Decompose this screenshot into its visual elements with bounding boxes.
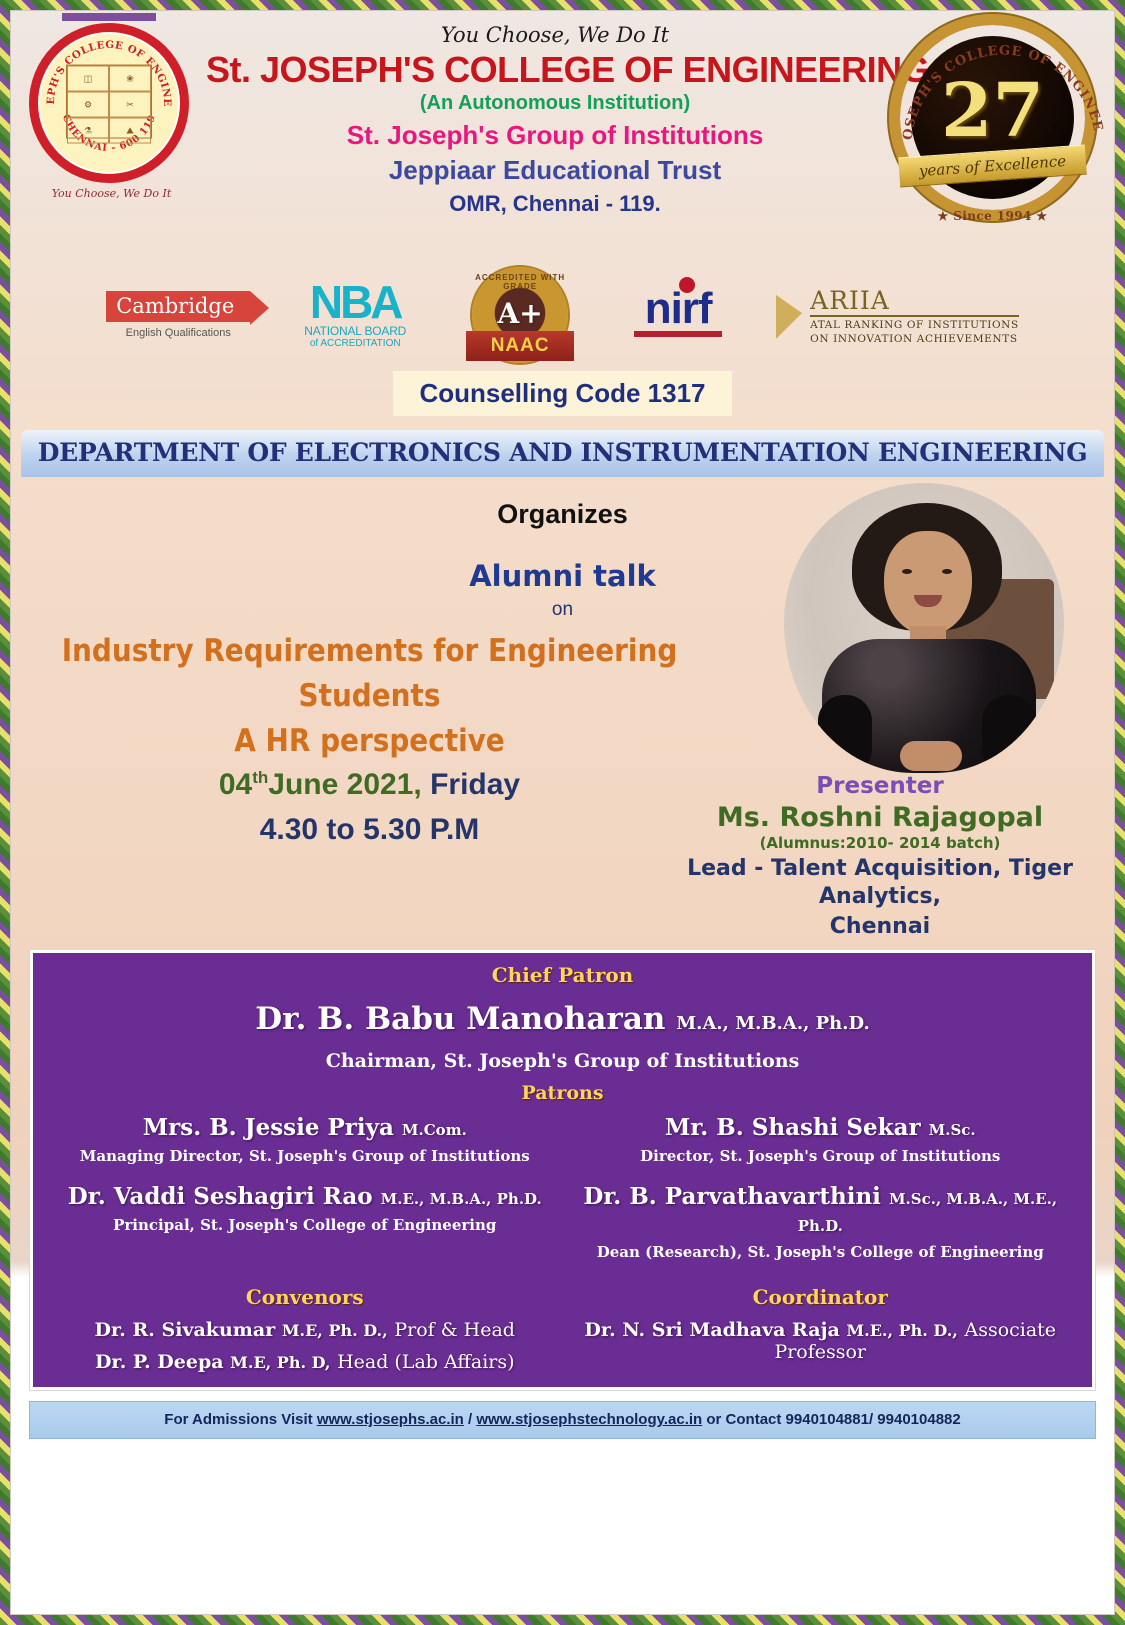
department-banner: DEPARTMENT OF ELECTRONICS AND INSTRUMENT… xyxy=(21,430,1104,477)
convenor-role: Head (Lab Affairs) xyxy=(337,1351,514,1373)
chief-patron-degrees: M.A., M.B.A., Ph.D. xyxy=(676,1013,870,1034)
badge-27-circle: St. JOSEPH'S COLLEGE OF ENGINEERING 27 y… xyxy=(900,25,1085,210)
chief-patron-row: Dr. B. Babu Manoharan M.A., M.B.A., Ph.D… xyxy=(47,1001,1078,1037)
cambridge-subtitle: English Qualifications xyxy=(106,327,250,339)
patron-name-row: Dr. Vaddi Seshagiri Rao M.E., M.B.A., Ph… xyxy=(47,1183,563,1210)
ariia-logo: ARIIA ATAL RANKING OF INSTITUTIONS ON IN… xyxy=(776,286,1019,345)
patron-degrees: M.E., M.B.A., Ph.D. xyxy=(381,1190,542,1208)
event-main-section: Organizes Alumni talk on Industry Requir… xyxy=(11,477,1114,947)
patron-role: Director, St. Joseph's Group of Institut… xyxy=(563,1147,1079,1165)
seal-shield-grid: ◫ ❀ ⚙ ✂ ⚗ ⛰ xyxy=(66,65,152,139)
convenor-degrees: M.E, Ph. D., xyxy=(282,1321,388,1340)
chief-patron-role: Chairman, St. Joseph's Group of Institut… xyxy=(47,1050,1078,1072)
photo-arm-left xyxy=(818,695,872,773)
anniversary-badge-logo: St. JOSEPH'S COLLEGE OF ENGINEERING 27 y… xyxy=(900,25,1100,225)
patrons-row-2: Dr. Vaddi Seshagiri Rao M.E., M.B.A., Ph… xyxy=(47,1183,1078,1261)
coordinator-name: Dr. N. Sri Madhava Raja xyxy=(584,1319,839,1341)
nirf-text: nirf xyxy=(645,284,712,333)
naac-seal: ACCREDITED WITH GRADE A+ NAAC xyxy=(460,267,580,363)
event-weekday: Friday xyxy=(430,768,520,801)
convenor-name: Dr. R. Sivakumar xyxy=(95,1319,276,1341)
institution-address: OMR, Chennai - 119. xyxy=(206,191,904,217)
footer-link-stjosephstechnology[interactable]: www.stjosephstechnology.ac.in xyxy=(476,1411,702,1428)
seal-circle: St. JOSEPH'S COLLEGE OF ENGINEERING CHEN… xyxy=(29,23,189,183)
patron-name-row: Mrs. B. Jessie Priya M.Com. xyxy=(47,1114,563,1141)
poster-root: St. JOSEPH'S COLLEGE OF ENGINEERING CHEN… xyxy=(0,0,1125,1625)
shield-cell-flask: ⚗ xyxy=(67,118,109,144)
admissions-footer: For Admissions Visit www.stjosephs.ac.in… xyxy=(29,1401,1096,1439)
presenter-role-line-2: Chennai xyxy=(660,913,1100,941)
event-date-monthyear: June 2021, xyxy=(268,768,421,801)
ariia-arrow-icon xyxy=(776,291,802,339)
event-topic: Industry Requirements for Engineering St… xyxy=(25,629,714,764)
patron-name-row: Dr. B. Parvathavarthini M.Sc., M.B.A., M… xyxy=(563,1183,1079,1237)
seal-banner-bar xyxy=(62,13,156,21)
convenor-name: Dr. P. Deepa xyxy=(95,1351,224,1373)
accreditation-logo-row: Cambridge English Qualifications NBA NAT… xyxy=(11,265,1114,365)
cambridge-wordmark: Cambridge xyxy=(106,291,250,322)
badge-since-text: ★ Since 1994 ★ xyxy=(911,209,1074,223)
seal-motto: You Choose, We Do It xyxy=(29,187,194,200)
naac-ribbon-text: NAAC xyxy=(466,331,574,361)
trust-name: Jeppiaar Educational Trust xyxy=(206,155,904,186)
counselling-code-badge: Counselling Code 1317 xyxy=(393,371,731,416)
college-name: St. JOSEPH'S COLLEGE OF ENGINEERING xyxy=(206,49,904,91)
nirf-logo: nirf xyxy=(634,289,722,341)
convenors-label: Convenors xyxy=(47,1285,563,1309)
patron-role: Principal, St. Joseph's College of Engin… xyxy=(47,1216,563,1234)
patron-name: Dr. Vaddi Seshagiri Rao xyxy=(68,1183,373,1210)
badge-number: 27 xyxy=(941,68,1044,154)
convenor-role: Prof & Head xyxy=(394,1319,515,1341)
patrons-label: Patrons xyxy=(47,1082,1078,1104)
coordinator-row: Dr. N. Sri Madhava Raja M.E., Ph. D., As… xyxy=(563,1319,1079,1363)
patron-role: Managing Director, St. Joseph's Group of… xyxy=(47,1147,563,1165)
institution-title-block: You Choose, We Do It St. JOSEPH'S COLLEG… xyxy=(206,23,904,217)
photo-eye-right xyxy=(942,569,952,574)
patron-card: Mrs. B. Jessie Priya M.Com. Managing Dir… xyxy=(47,1114,563,1165)
nba-logo: NBA NATIONAL BOARD of ACCREDITATION xyxy=(304,281,406,350)
college-seal-logo: St. JOSEPH'S COLLEGE OF ENGINEERING CHEN… xyxy=(29,23,194,213)
shield-cell-bridge: ⛰ xyxy=(109,118,151,144)
cambridge-logo: Cambridge English Qualifications xyxy=(106,291,250,339)
patron-name: Mrs. B. Jessie Priya xyxy=(143,1114,394,1141)
event-date-row: 04thJune 2021, Friday xyxy=(25,762,714,807)
footer-link-stjosephs[interactable]: www.stjosephs.ac.in xyxy=(317,1411,464,1428)
ariia-text-block: ARIIA ATAL RANKING OF INSTITUTIONS ON IN… xyxy=(810,286,1019,345)
patron-name: Dr. B. Parvathavarthini xyxy=(583,1183,881,1210)
footer-suffix: or Contact 9940104881/ 9940104882 xyxy=(702,1411,961,1428)
naac-grade-text: A+ xyxy=(460,297,580,330)
photo-face xyxy=(884,531,972,635)
footer-separator: / xyxy=(464,1411,477,1428)
event-date-suffix: th xyxy=(252,768,268,787)
naac-accredited-text: ACCREDITED WITH GRADE xyxy=(460,273,580,291)
event-date-day: 04 xyxy=(219,768,252,801)
patron-degrees: M.Com. xyxy=(402,1121,467,1139)
presenter-name: Ms. Roshni Rajagopal xyxy=(660,802,1100,833)
patron-role: Dean (Research), St. Joseph's College of… xyxy=(563,1243,1079,1261)
ariia-subtitle-2: ON INNOVATION ACHIEVEMENTS xyxy=(810,333,1019,345)
autonomous-label: (An Autonomous Institution) xyxy=(206,92,904,115)
ariia-subtitle-1: ATAL RANKING OF INSTITUTIONS xyxy=(810,319,1019,331)
department-name: DEPARTMENT OF ELECTRONICS AND INSTRUMENT… xyxy=(38,438,1088,467)
group-name: St. Joseph's Group of Institutions xyxy=(206,120,904,151)
patron-degrees: M.Sc. xyxy=(929,1121,976,1139)
patrons-panel: Chief Patron Dr. B. Babu Manoharan M.A.,… xyxy=(33,953,1092,1387)
patron-card: Dr. B. Parvathavarthini M.Sc., M.B.A., M… xyxy=(563,1183,1079,1261)
ariia-wordmark: ARIIA xyxy=(810,286,1019,317)
shield-cell-gear: ⚙ xyxy=(67,92,109,118)
nirf-wordmark: nirf xyxy=(645,289,712,329)
nba-wordmark: NBA xyxy=(304,281,406,325)
presenter-label: Presenter xyxy=(660,773,1100,799)
institution-tagline: You Choose, We Do It xyxy=(206,23,904,47)
nba-subtitle-1: NATIONAL BOARD xyxy=(304,324,406,338)
coordinator-block: Coordinator Dr. N. Sri Madhava Raja M.E.… xyxy=(563,1285,1079,1373)
counselling-code-wrap: Counselling Code 1317 xyxy=(11,371,1114,416)
event-time: 4.30 to 5.30 P.M xyxy=(25,807,714,852)
nirf-dot-icon xyxy=(679,277,695,293)
convenor-row: Dr. P. Deepa M.E, Ph. D, Head (Lab Affai… xyxy=(47,1351,563,1373)
footer-prefix: For Admissions Visit xyxy=(164,1411,317,1428)
convenors-coordinator-row: Convenors Dr. R. Sivakumar M.E, Ph. D., … xyxy=(47,1285,1078,1373)
coordinator-label: Coordinator xyxy=(563,1285,1079,1309)
chief-patron-name: Dr. B. Babu Manoharan xyxy=(255,1001,665,1037)
patrons-panel-frame: Chief Patron Dr. B. Babu Manoharan M.A.,… xyxy=(29,949,1096,1391)
event-datetime: 04thJune 2021, Friday 4.30 to 5.30 P.M xyxy=(25,762,714,852)
convenor-degrees: M.E, Ph. D, xyxy=(230,1353,330,1372)
patron-card: Mr. B. Shashi Sekar M.Sc. Director, St. … xyxy=(563,1114,1079,1165)
patrons-row-1: Mrs. B. Jessie Priya M.Com. Managing Dir… xyxy=(47,1114,1078,1165)
shield-cell-antenna: ❀ xyxy=(109,66,151,92)
photo-hands xyxy=(900,741,962,771)
presenter-details: Presenter Ms. Roshni Rajagopal (Alumnus:… xyxy=(660,773,1100,941)
patron-name-row: Mr. B. Shashi Sekar M.Sc. xyxy=(563,1114,1079,1141)
patron-card: Dr. Vaddi Seshagiri Rao M.E., M.B.A., Ph… xyxy=(47,1183,563,1261)
chief-patron-label: Chief Patron xyxy=(47,963,1078,987)
poster-inner: St. JOSEPH'S COLLEGE OF ENGINEERING CHEN… xyxy=(10,10,1115,1615)
coordinator-degrees: M.E., Ph. D., xyxy=(846,1321,957,1340)
presenter-role-line-1: Lead - Talent Acquisition, Tiger Analyti… xyxy=(660,855,1100,910)
convenors-block: Convenors Dr. R. Sivakumar M.E, Ph. D., … xyxy=(47,1285,563,1373)
nba-subtitle-2: of ACCREDITATION xyxy=(304,338,406,349)
shield-cell-computer: ◫ xyxy=(67,66,109,92)
photo-eye-left xyxy=(902,569,912,574)
poster-header: St. JOSEPH'S COLLEGE OF ENGINEERING CHEN… xyxy=(11,11,1114,261)
topic-line-2: A HR perspective xyxy=(25,719,714,764)
patron-name: Mr. B. Shashi Sekar xyxy=(665,1114,921,1141)
photo-arm-right xyxy=(982,695,1036,773)
presenter-batch: (Alumnus:2010- 2014 batch) xyxy=(660,834,1100,852)
presenter-photo xyxy=(784,483,1064,773)
shield-cell-tool: ✂ xyxy=(109,92,151,118)
topic-line-1: Industry Requirements for Engineering St… xyxy=(62,633,678,714)
convenor-row: Dr. R. Sivakumar M.E, Ph. D., Prof & Hea… xyxy=(47,1319,563,1341)
